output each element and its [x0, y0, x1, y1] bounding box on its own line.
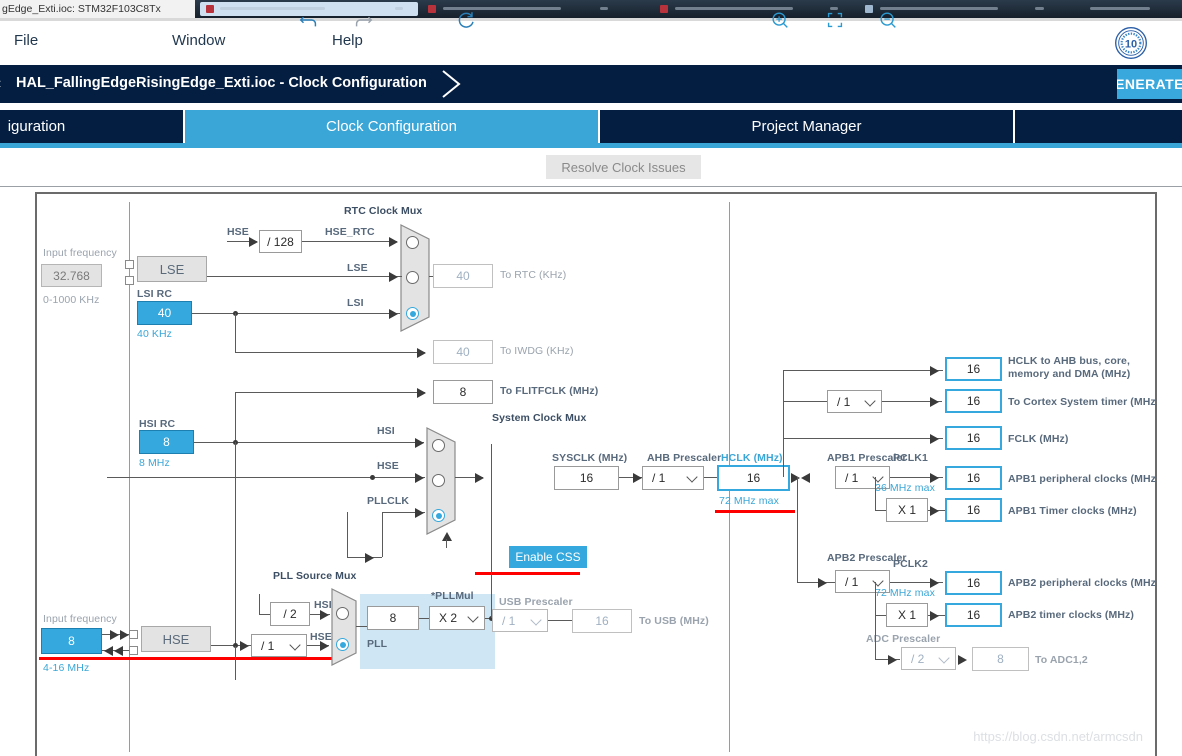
wire-hse-riser — [235, 646, 236, 680]
ahb-prescaler-select[interactable]: / 1 — [642, 466, 704, 490]
hclk-max-label: 72 MHz max — [719, 495, 779, 507]
hse-range-label: 4-16 MHz — [43, 662, 89, 674]
adc-prescaler-value: / 2 — [902, 652, 924, 666]
arrow-hse-in-1 — [110, 630, 119, 640]
arrow-hse-back-1 — [104, 646, 113, 656]
hse-rtc-label: HSE_RTC — [325, 226, 375, 238]
apb1-periph-label: APB1 peripheral clocks (MHz) — [1008, 473, 1157, 485]
os-tab-close-blur-1[interactable] — [395, 7, 403, 10]
pll-source-mux[interactable] — [330, 587, 364, 667]
apb2-prescaler-value: / 1 — [836, 575, 858, 589]
wire-hclk-bus-riser — [783, 370, 784, 477]
chevron-down-icon — [289, 639, 300, 650]
pclk1-label: PCLK1 — [893, 452, 928, 464]
os-tab-close-blur-4[interactable] — [1035, 7, 1044, 10]
lsi-rc-value[interactable]: 40 — [137, 301, 192, 325]
cortex-prescaler-select[interactable]: / 1 — [827, 390, 882, 413]
hsi-rc-value[interactable]: 8 — [139, 430, 194, 454]
usb-out-label: To USB (MHz) — [639, 615, 709, 627]
wire-lsi-to-iwdg — [235, 352, 425, 353]
hse-rtc-divider-128[interactable]: / 128 — [259, 230, 302, 253]
hclk-out-label: HCLK to AHB bus, core, memory and DMA (M… — [1008, 355, 1157, 381]
junction-hse-sys — [370, 475, 375, 480]
wire-cortex-pre-in — [783, 401, 833, 402]
wire-pll-to-mul — [419, 618, 429, 619]
pllmul-title: *PLLMul — [431, 590, 474, 602]
to-flitfclk-label: To FLITFCLK (MHz) — [500, 385, 598, 397]
rtc-mux-label-lse: LSE — [347, 262, 368, 274]
os-tab-favicon-3 — [660, 5, 668, 13]
arrow-css-feed — [365, 553, 374, 563]
clock-configuration-canvas[interactable]: Input frequency 32.768 0-1000 KHz LSE LS… — [35, 192, 1157, 756]
sys-mux-option-pllclk[interactable] — [432, 509, 445, 522]
sysclk-value[interactable]: 16 — [554, 466, 619, 490]
wire-pllclk-up — [491, 444, 492, 618]
pll-source-mux-title: PLL Source Mux — [273, 570, 356, 582]
redo-icon[interactable] — [352, 9, 374, 31]
menu-item-file[interactable]: File — [14, 32, 38, 49]
cortex-out-label: To Cortex System timer (MHz) — [1008, 396, 1157, 408]
apb1-max-label: 36 MHz max — [875, 482, 935, 494]
lsi-rc-title: LSI RC — [137, 288, 172, 300]
wire-lsi-to-rtcmux — [192, 313, 400, 314]
rtc-clock-mux-title: RTC Clock Mux — [344, 205, 422, 217]
arrow-pllclk-to-sysmux — [415, 508, 424, 518]
zoom-out-icon[interactable] — [877, 9, 899, 31]
arrow-hclk-to-apb2 — [818, 578, 827, 588]
hclk-out-value[interactable]: 16 — [945, 357, 1002, 381]
hclk-value[interactable]: 16 — [717, 465, 790, 491]
lse-pin-in[interactable] — [125, 260, 134, 269]
arrow-hsediv-to-pllmux — [320, 641, 329, 651]
system-clock-mux-title: System Clock Mux — [492, 412, 586, 424]
os-window-controls-blur[interactable] — [1090, 7, 1150, 10]
ahb-prescaler-title: AHB Prescaler — [647, 452, 721, 464]
hse-rtc-div-input-label: HSE — [227, 226, 249, 238]
wire-adc-drop — [875, 615, 876, 659]
watermark-text: https://blog.csdn.net/armcsdn — [973, 729, 1143, 744]
arrow-lsi-to-iwdg — [417, 348, 426, 358]
adc-out-label: To ADC1,2 — [1035, 654, 1088, 666]
arrow-css-to-sysmux — [442, 532, 452, 541]
arrow-apb2-timer — [930, 611, 939, 621]
apb2-max-label: 72 MHz max — [875, 587, 935, 599]
main-tab-bar: iguration Clock Configuration Project Ma… — [0, 110, 1182, 143]
apb1-prescaler-value: / 1 — [836, 471, 858, 485]
arrow-sysclk-to-ahb — [633, 473, 642, 483]
to-iwdg-label: To IWDG (KHz) — [500, 345, 574, 357]
wire-hclk-to-apb2 — [797, 477, 798, 582]
os-tab-close-blur-2[interactable] — [600, 7, 608, 10]
lse-range-label: 0-1000 KHz — [43, 294, 99, 306]
lse-input-frequency-label: Input frequency — [43, 247, 117, 259]
tab-project-manager[interactable]: Project Manager — [600, 110, 1015, 143]
pll-mux-option-hse[interactable] — [336, 638, 349, 651]
chevron-down-icon — [530, 614, 541, 625]
hse-pin-out[interactable] — [129, 646, 138, 655]
canvas-right-border — [1155, 192, 1157, 756]
os-tab-favicon-2 — [428, 5, 436, 13]
arrow-apb1-timer — [930, 506, 939, 516]
wire-hse-to-sysmux — [107, 477, 425, 478]
usb-out-value[interactable]: 16 — [572, 609, 632, 633]
breadcrumb-title: HAL_FallingEdgeRisingEdge_Exti.ioc - Clo… — [16, 75, 427, 91]
hse-input-frequency-field[interactable]: 8 — [41, 628, 102, 654]
resolve-clock-issues-button[interactable]: Resolve Clock Issues — [546, 155, 701, 179]
to-iwdg-value[interactable]: 40 — [433, 340, 493, 364]
tab-pinout-configuration[interactable]: iguration — [0, 110, 185, 143]
arrow-apb1-back — [801, 473, 810, 483]
hsi-div2-box[interactable]: / 2 — [270, 602, 310, 626]
menu-item-help[interactable]: Help — [332, 32, 363, 49]
arrow-hse-in-2 — [120, 630, 129, 640]
enable-css-button[interactable]: Enable CSS — [509, 546, 587, 568]
apb1-timer-multiplier[interactable]: X 1 — [886, 498, 928, 522]
zoom-in-icon[interactable] — [769, 9, 791, 31]
arrow-apb1-periph — [930, 473, 939, 483]
apb2-periph-label: APB2 peripheral clocks (MHz) — [1008, 577, 1157, 589]
arrow-hclk-out — [930, 366, 939, 376]
wire-hsi-to-sysmux — [194, 442, 424, 443]
ahb-prescaler-value: / 1 — [643, 471, 665, 485]
arrow-div128-to-rtcmux — [389, 237, 398, 247]
fclk-out-label: FCLK (MHz) — [1008, 433, 1068, 445]
cortex-out-value[interactable]: 16 — [945, 389, 1002, 413]
arrow-hsi-to-sysmux — [415, 438, 424, 448]
svg-text:10: 10 — [1125, 39, 1137, 51]
arrow-hse-to-sysmux — [415, 473, 424, 483]
rtc-mux-option-hse-rtc[interactable] — [406, 236, 419, 249]
os-title-bar: gEdge_Exti.ioc: STM32F103C8Tx — [0, 0, 1182, 18]
wire-hsi-div2-riser — [259, 594, 260, 614]
arrow-lse-to-rtcmux — [389, 272, 398, 282]
to-rtc-value[interactable]: 40 — [433, 264, 493, 288]
wire-div128-to-rtcmux — [302, 241, 397, 242]
system-clock-mux[interactable] — [425, 426, 465, 536]
pllmul-value: X 2 — [430, 611, 457, 625]
hse-error-underline — [39, 657, 332, 660]
wire-to-flitfclk — [235, 392, 425, 393]
tab-tools[interactable] — [1015, 110, 1182, 143]
apb1-timer-value[interactable]: 16 — [945, 498, 1002, 522]
fit-to-screen-icon[interactable] — [824, 9, 846, 31]
chevron-down-icon — [864, 395, 875, 406]
to-rtc-label: To RTC (KHz) — [500, 269, 566, 281]
lse-input-frequency-field[interactable]: 32.768 — [41, 264, 102, 287]
wire-css-riser — [347, 512, 348, 557]
breadcrumb-bar: ‹ HAL_FallingEdgeRisingEdge_Exti.ioc - C… — [0, 65, 1182, 103]
wire-hsi-to-div2 — [259, 614, 270, 615]
rtc-mux-option-lsi[interactable] — [406, 307, 419, 320]
cortex-prescaler-value: / 1 — [828, 395, 850, 409]
lse-oscillator-block[interactable]: LSE — [137, 256, 207, 282]
sys-mux-option-hsi[interactable] — [432, 439, 445, 452]
wire-fclk-out — [783, 438, 943, 439]
arrow-lsi-to-rtcmux — [389, 309, 398, 319]
hse-input-frequency-label: Input frequency — [43, 613, 117, 625]
chevron-down-icon — [938, 652, 949, 663]
chevron-down-icon — [686, 471, 697, 482]
hclk-title: HCLK (MHz) — [721, 452, 783, 464]
pllmul-select[interactable]: X 2 — [429, 606, 485, 630]
rtc-mux-option-lse[interactable] — [406, 271, 419, 284]
adc-out-value[interactable]: 8 — [972, 647, 1029, 671]
undo-icon[interactable] — [298, 9, 320, 31]
sys-mux-label-pllclk: PLLCLK — [367, 495, 409, 507]
os-active-tab[interactable]: gEdge_Exti.ioc: STM32F103C8Tx — [0, 0, 195, 18]
hse-oscillator-block[interactable]: HSE — [141, 626, 211, 652]
apb1-periph-value[interactable]: 16 — [945, 466, 1002, 490]
sys-mux-label-hsi: HSI — [377, 425, 395, 437]
apb1-timer-label: APB1 Timer clocks (MHz) — [1008, 505, 1137, 517]
generate-code-button[interactable]: GENERATE CODE — [1117, 69, 1182, 99]
wire-hclk-out — [783, 370, 943, 371]
hsi-rc-unit: 8 MHz — [139, 457, 170, 469]
os-tab-favicon-4 — [865, 5, 873, 13]
menu-item-window[interactable]: Window — [172, 32, 225, 49]
wire-lse-out — [207, 276, 402, 277]
apb2-timer-label: APB2 timer clocks (MHz) — [1008, 609, 1134, 621]
arrow-hse-to-div128 — [249, 237, 258, 247]
arrow-div2-to-pllmux — [320, 610, 329, 620]
wire-pllclk-riser — [382, 512, 383, 557]
tab-clock-configuration[interactable]: Clock Configuration — [185, 110, 600, 143]
chevron-down-icon — [467, 611, 478, 622]
apb2-timer-value[interactable]: 16 — [945, 603, 1002, 627]
hclk-error-underline — [715, 510, 795, 513]
arrow-sysmux-to-sysclk — [475, 473, 484, 483]
hse-divider-select[interactable]: / 1 — [251, 634, 307, 657]
pll-mux-option-hsi[interactable] — [336, 607, 349, 620]
rtc-mux-label-lsi: LSI — [347, 297, 364, 309]
fclk-out-value[interactable]: 16 — [945, 426, 1002, 450]
wire-hsi-branch-down — [235, 442, 236, 646]
breadcrumb-back-icon[interactable]: ‹ — [0, 75, 1, 93]
arrow-adc-out — [958, 655, 967, 665]
usb-prescaler-value: / 1 — [493, 614, 515, 628]
hse-divider-value: / 1 — [252, 639, 274, 653]
hsi-rc-title: HSI RC — [139, 418, 175, 430]
pll-panel-label: PLL — [367, 638, 387, 650]
lsi-rc-unit: 40 KHz — [137, 328, 172, 340]
os-tab-favicon-1 — [206, 5, 214, 13]
wire-lsi-branch-down — [235, 313, 236, 352]
arrow-cortex-out — [930, 397, 939, 407]
pclk2-label: PCLK2 — [893, 558, 928, 570]
arrow-to-adc-prescaler — [888, 655, 897, 665]
breadcrumb-chevron-icon — [437, 65, 467, 103]
apb2-timer-multiplier[interactable]: X 1 — [886, 603, 928, 627]
reset-icon[interactable] — [455, 9, 477, 31]
sysclk-title: SYSCLK (MHz) — [552, 452, 627, 464]
lse-pin-out[interactable] — [125, 276, 134, 285]
usb-prescaler-select[interactable]: / 1 — [492, 609, 548, 632]
wire-apb1-timer-drop — [875, 477, 876, 510]
sys-mux-label-hse: HSE — [377, 460, 399, 472]
wire-apb2-timer-drop — [875, 582, 876, 615]
wire-flitf-riser — [235, 392, 236, 442]
arrow-hse-back-2 — [114, 646, 123, 656]
menu-bar: File Window Help — [0, 21, 1182, 65]
pll-input-value[interactable]: 8 — [367, 606, 419, 630]
hse-pin-in[interactable] — [129, 630, 138, 639]
wire-apb2-pre-in — [797, 582, 835, 583]
arrow-hse-to-div — [240, 641, 249, 651]
usb-prescaler-title: USB Prescaler — [499, 596, 573, 608]
apb2-periph-value[interactable]: 16 — [945, 571, 1002, 595]
arrow-to-flitfclk — [417, 388, 426, 398]
adc-prescaler-select[interactable]: / 2 — [901, 647, 956, 670]
st-anniversary-logo-icon: 10 — [1114, 26, 1148, 60]
to-flitfclk-value[interactable]: 8 — [433, 380, 493, 404]
wire-css-to-sysmux — [446, 539, 447, 548]
arrow-hclk-to-apb1 — [791, 473, 800, 483]
arrow-apb2-periph — [930, 578, 939, 588]
arrow-fclk-out — [930, 434, 939, 444]
sys-mux-option-hse[interactable] — [432, 474, 445, 487]
adc-prescaler-title: ADC Prescaler — [866, 633, 940, 645]
